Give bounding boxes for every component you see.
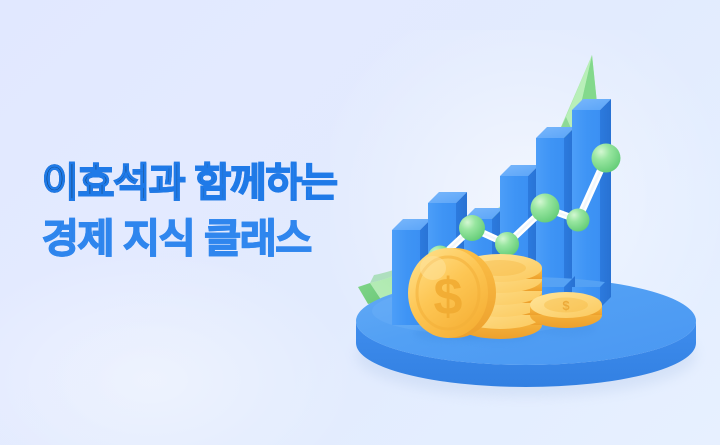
data-point-2 bbox=[459, 215, 485, 241]
data-point-4 bbox=[531, 194, 560, 223]
promo-banner: 이효석과 함께하는 경제 지식 클래스 bbox=[0, 0, 720, 445]
standing-dollar-coin: $ bbox=[408, 248, 496, 338]
data-point-6 bbox=[592, 144, 621, 173]
data-point-5 bbox=[567, 209, 590, 232]
growth-chart-illustration: $ $ bbox=[330, 25, 720, 425]
background-glow-secondary bbox=[0, 250, 360, 445]
svg-text:$: $ bbox=[562, 298, 570, 313]
data-point-3 bbox=[495, 232, 519, 256]
bar-6 bbox=[572, 99, 611, 308]
flat-coin: $ bbox=[530, 292, 602, 328]
